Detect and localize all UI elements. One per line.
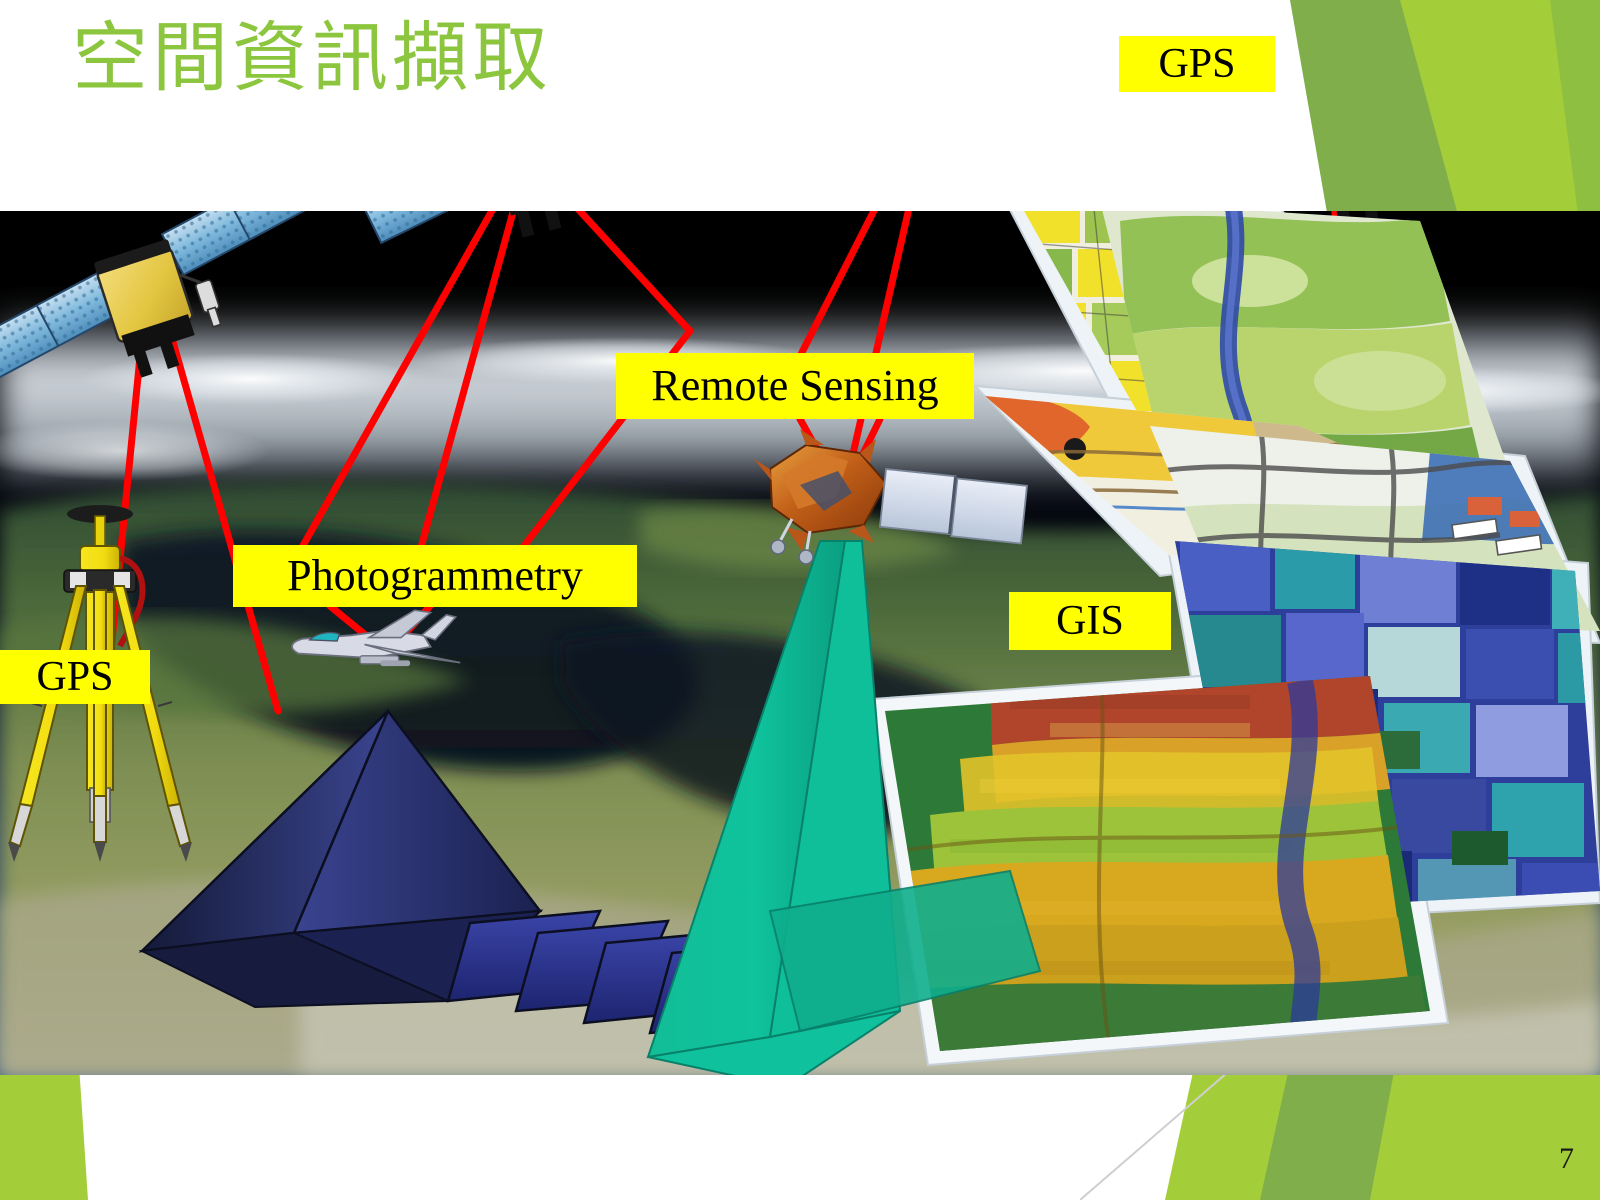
diagram-scene <box>0 211 1600 1075</box>
decorative-corner-top-right <box>1100 0 1600 230</box>
label-photogrammetry: Photogrammetry <box>233 545 637 607</box>
gps-receiver-tripod <box>0 211 1600 1075</box>
page-title: 空間資訊擷取 <box>72 18 552 98</box>
label-gps-top: GPS <box>1119 36 1275 92</box>
label-gis: GIS <box>1009 592 1171 650</box>
presentation-slide: 空間資訊擷取 <box>0 0 1600 1200</box>
label-remote-sensing: Remote Sensing <box>616 353 974 419</box>
page-number: 7 <box>1559 1142 1574 1176</box>
label-gps-bottom: GPS <box>0 650 150 704</box>
